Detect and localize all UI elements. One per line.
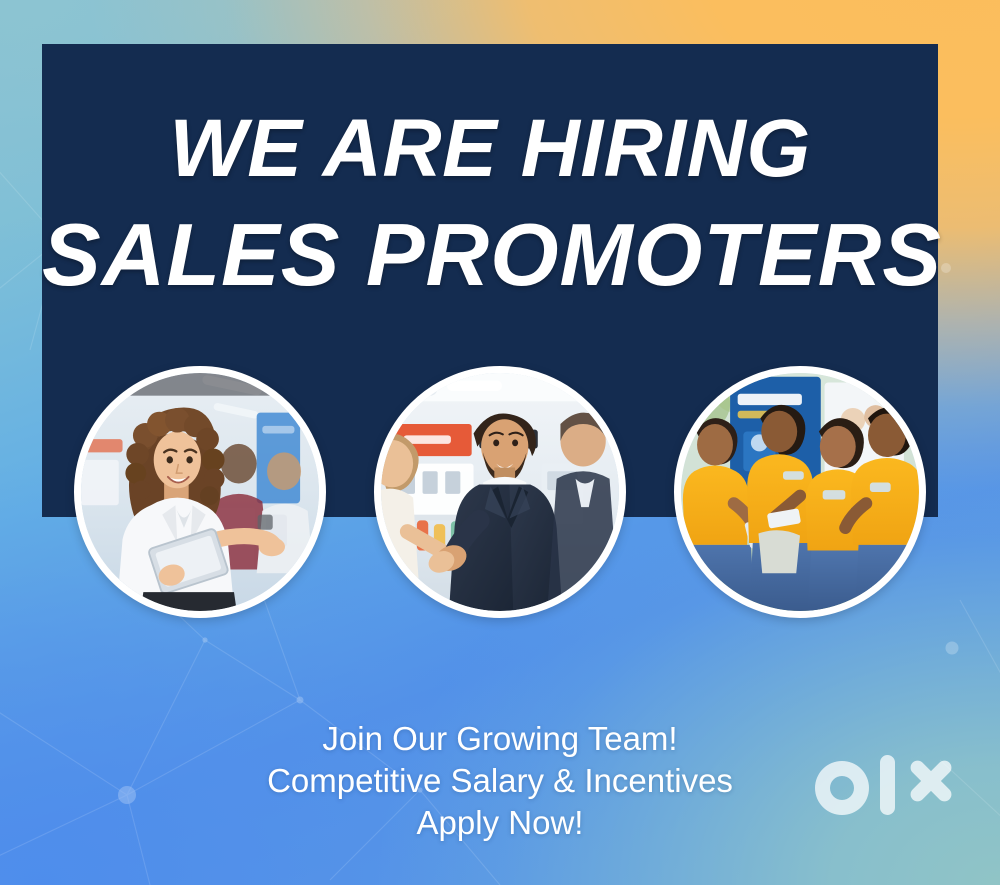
photo-handshake-in-store <box>374 366 626 618</box>
hiring-poster: WE ARE HIRING SALES PROMOTERS <box>0 0 1000 885</box>
photo-3-image <box>681 373 919 611</box>
photo-2-image <box>381 373 619 611</box>
photo-1-image <box>81 373 319 611</box>
photo-promoter-team-outdoors <box>674 366 926 618</box>
olx-watermark <box>806 751 966 837</box>
headline-block: WE ARE HIRING SALES PROMOTERS <box>42 44 938 309</box>
photo-smiling-saleswoman-with-tablet <box>74 366 326 618</box>
headline-line-2: SALES PROMOTERS <box>42 200 938 309</box>
headline-line-1: WE ARE HIRING <box>42 98 938 200</box>
